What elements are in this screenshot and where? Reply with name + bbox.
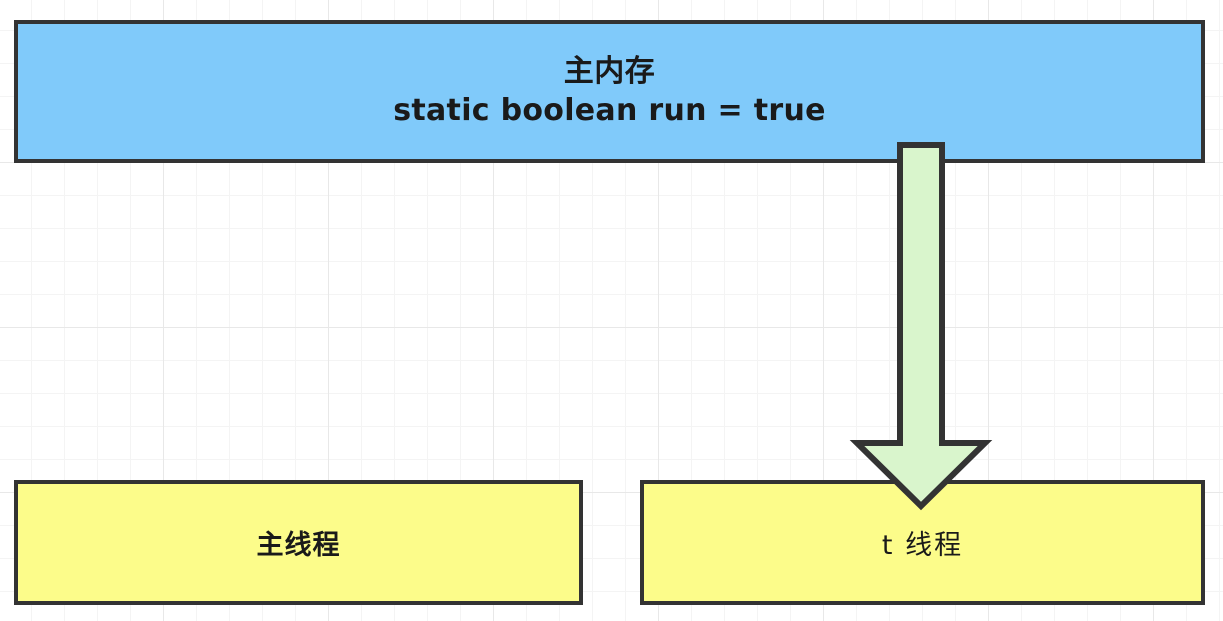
down-arrow-icon — [848, 140, 994, 512]
down-arrow-shape — [857, 145, 985, 506]
t-thread-label: t 线程 — [882, 523, 963, 562]
main-memory-variable-declaration: static boolean run = true — [393, 92, 826, 130]
diagram-canvas: 主内存 static boolean run = true 主线程 t 线程 — [0, 0, 1223, 621]
main-thread-label: 主线程 — [257, 523, 341, 562]
main-memory-title: 主内存 — [564, 53, 656, 91]
t-thread-box[interactable]: t 线程 — [640, 480, 1205, 605]
main-memory-box[interactable]: 主内存 static boolean run = true — [14, 20, 1205, 163]
main-thread-box[interactable]: 主线程 — [14, 480, 583, 605]
